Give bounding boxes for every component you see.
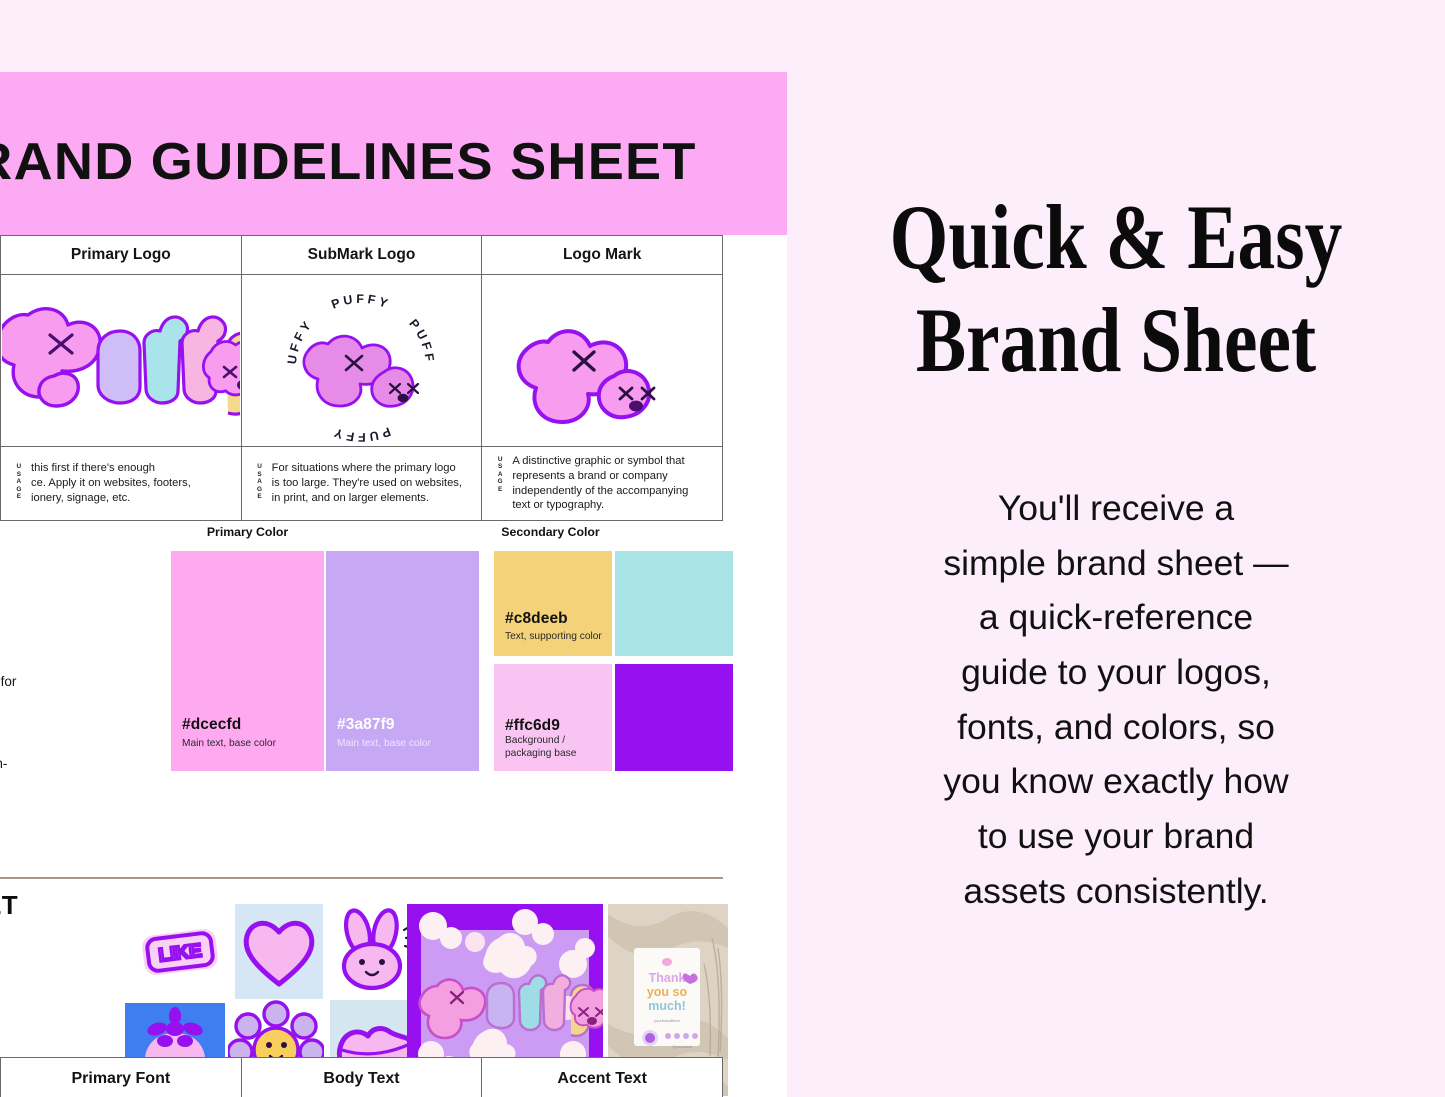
primary-color-label: Primary Color <box>110 525 385 539</box>
font-table: Primary Font Body Text Accent Text <box>0 1057 723 1097</box>
logo-header-submark: SubMark Logo <box>241 236 482 275</box>
logo-table: Primary Logo SubMark Logo Logo Mark <box>0 235 723 521</box>
submark-logo-icon: PUFFY PUFFY PUFFY PUFFY <box>266 280 456 442</box>
asset-tile-like-sticker: LIKE <box>130 907 230 998</box>
primary-logo-icon <box>2 281 240 441</box>
swatch-primary-2: #3a87f9 Main text, base color <box>326 551 479 771</box>
page-title: BRAND GUIDELINES SHEET <box>0 132 697 192</box>
swatch-note-1: Main text, base color <box>337 738 431 750</box>
usage-label-primary: USAGE <box>15 461 23 501</box>
usage-label-submark: USAGE <box>256 461 264 501</box>
usage-cell-submark: USAGE For situations where the primary l… <box>241 447 482 521</box>
asset-tile-heart-sticker <box>235 904 323 999</box>
swatch-secondary-yellow: #c8deeb Text, supporting color <box>494 551 612 656</box>
swatch-note-4: Background / packaging base <box>505 735 576 760</box>
submark-ring-bottom: PUFFY <box>330 424 393 442</box>
usage-cell-primary: USAGE this first if there's enough ce. A… <box>1 447 242 521</box>
usage-text-mark: A distinctive graphic or symbol that rep… <box>512 454 688 514</box>
usage-text-submark: For situations where the primary logo is… <box>272 461 462 506</box>
swatch-note-2: Text, supporting color <box>505 631 602 643</box>
font-header-body: Body Text <box>241 1058 482 1097</box>
svg-text:PUFFY: PUFFY <box>330 424 393 442</box>
promo-body: You'll receive a simple brand sheet — a … <box>832 481 1400 918</box>
submark-logo-cell: PUFFY PUFFY PUFFY PUFFY <box>241 275 482 447</box>
logo-table-header-row: Primary Logo SubMark Logo Logo Mark <box>1 236 723 275</box>
heart-sticker-icon <box>235 904 323 999</box>
brand-asset-title: ND ASSET <box>0 890 18 921</box>
logo-mark-icon <box>502 280 702 442</box>
logo-table-art-row: PUFFY PUFFY PUFFY PUFFY <box>1 275 723 447</box>
logo-table-usage-row: USAGE this first if there's enough ce. A… <box>1 447 723 521</box>
svg-text:you so: you so <box>647 985 688 999</box>
swatch-hex-4: #ffc6d9 <box>505 717 560 735</box>
swatch-note-0: Main text, base color <box>182 738 276 750</box>
swatch-secondary-aqua <box>615 551 733 656</box>
primary-logo-cell <box>1 275 242 447</box>
font-header-accent: Accent Text <box>482 1058 723 1097</box>
like-sticker-icon: LIKE <box>130 907 230 998</box>
swatch-primary-1: #dcecfd Main text, base color <box>171 551 324 771</box>
swatch-hex-0: #dcecfd <box>182 716 241 734</box>
secondary-color-label: Secondary Color <box>413 525 688 539</box>
logo-header-mark: Logo Mark <box>482 236 723 275</box>
logo-mark-cell <box>482 275 723 447</box>
promo-panel: Quick & Easy Brand Sheet You'll receive … <box>787 0 1445 1097</box>
swatch-hex-1: #3a87f9 <box>337 716 395 734</box>
svg-text:PUFFY: PUFFY <box>330 291 393 311</box>
usage-label-mark: USAGE <box>496 454 504 494</box>
logo-header-primary: Primary Logo <box>1 236 242 275</box>
font-table-header-row: Primary Font Body Text Accent Text <box>1 1058 723 1097</box>
swatch-secondary-pink: #ffc6d9 Background / packaging base <box>494 664 612 771</box>
promo-heading: Quick & Easy Brand Sheet <box>846 186 1386 392</box>
usage-cell-mark: USAGE A distinctive graphic or symbol th… <box>482 447 723 521</box>
section-divider <box>0 877 723 879</box>
colour-palette-body: the colours used in materials sed on-scr… <box>0 590 85 795</box>
submark-ring-top: PUFFY <box>330 291 393 311</box>
font-header-primary: Primary Font <box>1 1058 242 1097</box>
swatch-hex-2: #c8deeb <box>505 610 568 628</box>
svg-text:Thank: Thank <box>649 971 686 985</box>
svg-text:yourbrandhere: yourbrandhere <box>654 1018 681 1023</box>
svg-text:@yourbrand: @yourbrand <box>672 1045 692 1049</box>
swatch-secondary-violet <box>615 664 733 771</box>
brand-guidelines-sheet: BRAND GUIDELINES SHEET Primary Logo SubM… <box>0 72 787 1097</box>
usage-text-primary: this first if there's enough ce. Apply i… <box>31 461 191 506</box>
svg-text:much!: much! <box>648 999 686 1013</box>
